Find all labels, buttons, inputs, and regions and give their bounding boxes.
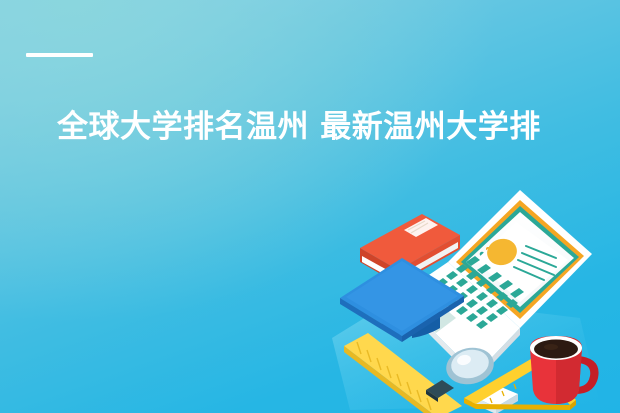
page-title: 全球大学排名温州 最新温州大学排 — [57, 107, 620, 147]
education-desk-illustration — [330, 178, 620, 413]
banner: 全球大学排名温州 最新温州大学排 — [0, 0, 620, 413]
decorative-rule — [26, 53, 93, 57]
